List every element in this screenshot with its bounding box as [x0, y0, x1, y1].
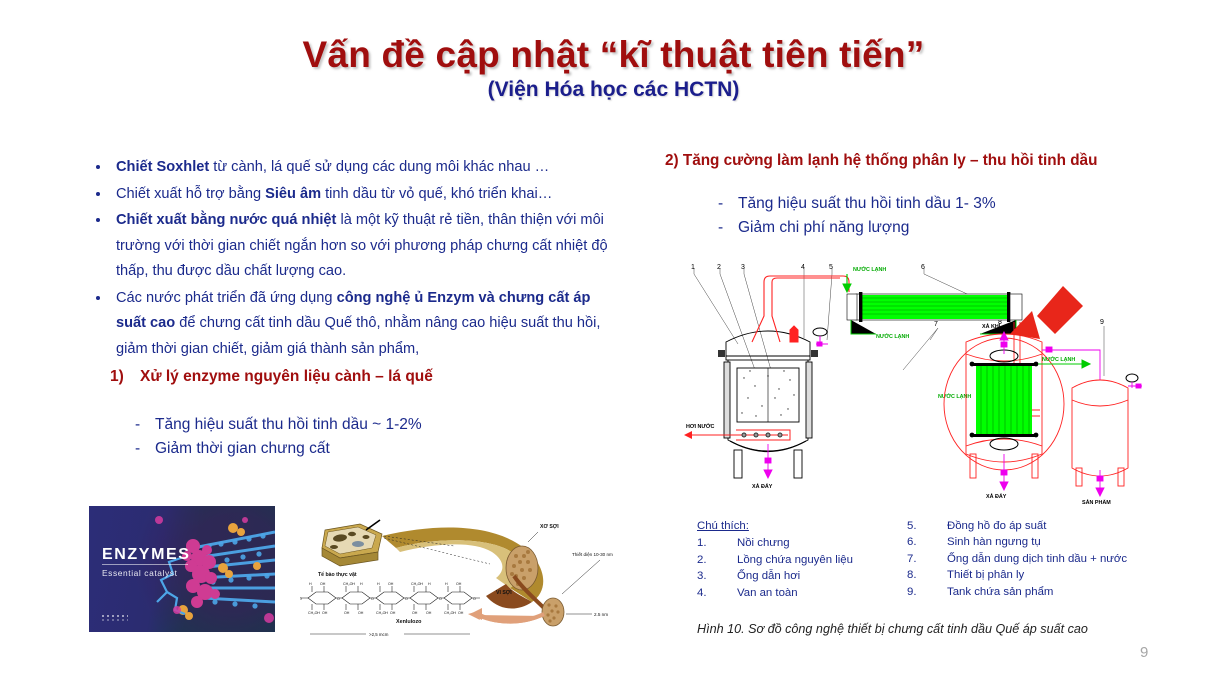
- bullet-text-bold: Siêu âm: [265, 186, 321, 202]
- svg-text:OH: OH: [390, 611, 396, 615]
- legend-item: 7.Ống dẫn dung dịch tinh dầu + nước: [907, 551, 1157, 567]
- legend-item: 5.Đồng hồ đo áp suất: [907, 518, 1157, 534]
- svg-text:H: H: [309, 582, 312, 586]
- list-item: Chiết xuất bằng nước quá nhiệt là một kỹ…: [88, 208, 618, 285]
- cellulose-microfiber-label: VI SỢI: [496, 590, 512, 596]
- legend-item: 6.Sinh hàn ngưng tụ: [907, 534, 1157, 550]
- left-column: Chiết Soxhlet từ cành, lá quế sử dụng cá…: [88, 155, 618, 363]
- legend-item: 9.Tank chứa sản phẩm: [907, 584, 1157, 600]
- callout-5: 5: [829, 264, 833, 271]
- legend-column-left: Chú thích: 1.Nồi chưng 2.Lồng chứa nguyê…: [697, 518, 907, 601]
- bullet-text-pre: Các nước phát triển đã ứng dụng: [116, 290, 337, 306]
- cellulose-figure: HOH CH₂OHOH CH₂OHH OHOH HOH CH₂OHOH CH₂O…: [300, 508, 630, 640]
- legend-number: 1.: [697, 535, 737, 551]
- bullet-text-bold: Chiết xuất bằng nước quá nhiệt: [116, 212, 336, 228]
- list-item: Các nước phát triển đã ứng dụng công ngh…: [88, 286, 618, 363]
- legend-number: 9.: [907, 584, 947, 600]
- svg-text:OH: OH: [358, 611, 364, 615]
- cellulose-scale-label: >2,5 mcm: [369, 632, 389, 637]
- figure-caption: Hình 10. Sơ đồ công nghệ thiết bị chưng …: [697, 622, 1197, 636]
- section-2-heading: 2) Tăng cường làm lạnh hệ thống phân ly …: [665, 152, 1205, 170]
- svg-text:OH: OH: [320, 582, 326, 586]
- legend-number: 8.: [907, 567, 947, 583]
- legend-number: 4.: [697, 585, 737, 601]
- legend-text: Thiết bị phân ly: [947, 567, 1157, 583]
- legend-item: 3.Ống dẫn hơi: [697, 568, 907, 584]
- label-bottom-drain-2: XẢ ĐÁY: [986, 493, 1007, 500]
- callout-3: 3: [741, 264, 745, 271]
- enzymes-divider: [102, 564, 188, 565]
- label-cold-water-mid: NƯỚC LẠNH: [876, 332, 909, 340]
- svg-text:CH₂OH: CH₂OH: [376, 611, 388, 615]
- bullet-list: Chiết Soxhlet từ cành, lá quế sử dụng cá…: [88, 155, 618, 362]
- svg-text:O: O: [300, 597, 302, 601]
- section-2-dash-list: Tăng hiệu suất thu hồi tinh dầu 1- 3% Gi…: [718, 192, 1188, 240]
- bullet-text-post: tinh dầu từ vỏ quế, khó triển khai…: [321, 186, 552, 202]
- bullet-text-pre: Chiết xuất hỗ trợ bằng: [116, 186, 265, 202]
- list-item: Tăng hiệu suất thu hồi tinh dầu ~ 1-2%: [135, 413, 615, 437]
- slide: Vấn đề cập nhật “kĩ thuật tiên tiến” (Vi…: [0, 0, 1227, 681]
- process-flow-svg: 1 2 3 4 5 6 7 8 9: [680, 258, 1200, 508]
- enzymes-subtitle: Essential catalyst: [102, 568, 178, 578]
- legend-item: 1.Nồi chưng: [697, 535, 907, 551]
- svg-text:O: O: [371, 597, 374, 601]
- legend-text: Tank chứa sản phẩm: [947, 584, 1157, 600]
- legend-number: 5.: [907, 518, 947, 534]
- section-1-heading: 1)Xử lý enzyme nguyên liệu cành – lá quế: [110, 368, 610, 386]
- cellulose-molecule-label: Xenlulozo: [396, 619, 422, 625]
- legend-number: 2.: [697, 552, 737, 568]
- label-vent: XẢ KHÍ: [982, 322, 1001, 330]
- svg-text:OH: OH: [426, 611, 432, 615]
- section-1-title: Xử lý enzyme nguyên liệu cành – lá quế: [140, 368, 433, 385]
- process-flow-diagram: 1 2 3 4 5 6 7 8 9: [680, 258, 1200, 508]
- svg-text:OH: OH: [388, 582, 394, 586]
- label-bottom-drain-1: XẢ ĐÁY: [752, 483, 773, 490]
- svg-text:O: O: [405, 597, 408, 601]
- list-item: Giảm chi phí năng lượng: [718, 216, 1188, 240]
- svg-text:O: O: [337, 597, 340, 601]
- legend-number: 7.: [907, 551, 947, 567]
- list-item: Chiết xuất hỗ trợ bằng Siêu âm tinh dầu …: [88, 182, 618, 208]
- legend-item: 4.Van an toàn: [697, 585, 907, 601]
- bullet-text-bold: Chiết Soxhlet: [116, 159, 209, 175]
- cellulose-svg: HOH CH₂OHOH CH₂OHH OHOH HOH CH₂OHOH CH₂O…: [300, 508, 630, 640]
- svg-text:OH: OH: [322, 611, 328, 615]
- legend-text: Ống dẫn hơi: [737, 568, 907, 584]
- svg-text:H: H: [360, 582, 363, 586]
- section-1-number: 1): [110, 368, 140, 386]
- legend-number: 3.: [697, 568, 737, 584]
- callout-4: 4: [801, 264, 805, 271]
- list-item: Tăng hiệu suất thu hồi tinh dầu 1- 3%: [718, 192, 1188, 216]
- legend-text: Ống dẫn dung dịch tinh dầu + nước: [947, 551, 1157, 567]
- svg-text:H: H: [445, 582, 448, 586]
- page-title: Vấn đề cập nhật “kĩ thuật tiên tiến”: [0, 34, 1227, 76]
- bullet-text-post: để chưng cất tinh dầu Quế thô, nhằm nâng…: [116, 315, 600, 357]
- diagram-legend: Chú thích: 1.Nồi chưng 2.Lồng chứa nguyê…: [697, 518, 1167, 601]
- label-steam: HƠI NƯỚC: [686, 422, 714, 430]
- page-subtitle: (Viện Hóa học các HCTN): [0, 78, 1227, 102]
- svg-text:O: O: [473, 597, 476, 601]
- section-1-dash-list: Tăng hiệu suất thu hồi tinh dầu ~ 1-2% G…: [135, 413, 615, 461]
- callout-2: 2: [717, 264, 721, 271]
- svg-text:CH₂OH: CH₂OH: [444, 611, 456, 615]
- cellulose-fiber-label: XƠ SỢI: [540, 524, 559, 530]
- legend-item: 8.Thiết bị phân ly: [907, 567, 1157, 583]
- svg-text:O: O: [439, 597, 442, 601]
- cellulose-nm-label: 2.5 nm: [594, 612, 608, 617]
- callout-6: 6: [921, 264, 925, 271]
- page-number: 9: [1140, 644, 1148, 661]
- svg-text:CH₂OH: CH₂OH: [343, 582, 355, 586]
- svg-text:OH: OH: [412, 611, 418, 615]
- cellulose-section-label: Thiết diện 10-30 nm: [572, 552, 613, 557]
- svg-text:OH: OH: [344, 611, 350, 615]
- legend-number: 6.: [907, 534, 947, 550]
- callout-9: 9: [1100, 319, 1104, 326]
- svg-text:OH: OH: [458, 611, 464, 615]
- legend-title: Chú thích:: [697, 518, 907, 534]
- list-item: Giảm thời gian chưng cất: [135, 437, 615, 461]
- svg-text:CH₂OH: CH₂OH: [411, 582, 423, 586]
- legend-text: Đồng hồ đo áp suất: [947, 518, 1157, 534]
- legend-text: Sinh hàn ngưng tụ: [947, 534, 1157, 550]
- label-cold-water-out: NƯỚC LẠNH: [1042, 355, 1075, 363]
- label-cold-water-top: NƯỚC LẠNH: [853, 265, 886, 273]
- callout-1: 1: [691, 264, 695, 271]
- svg-text:H: H: [428, 582, 431, 586]
- svg-text:H: H: [377, 582, 380, 586]
- list-item: Chiết Soxhlet từ cành, lá quế sử dụng cá…: [88, 155, 618, 181]
- bullet-text-post: từ cành, lá quế sử dụng các dung môi khá…: [209, 159, 549, 175]
- legend-item: 2.Lồng chứa nguyên liệu: [697, 552, 907, 568]
- legend-text: Lồng chứa nguyên liệu: [737, 552, 907, 568]
- legend-column-right: 5.Đồng hồ đo áp suất 6.Sinh hàn ngưng tụ…: [907, 518, 1157, 601]
- legend-text: Nồi chưng: [737, 535, 907, 551]
- legend-text: Van an toàn: [737, 585, 907, 601]
- svg-text:CH₂OH: CH₂OH: [308, 611, 320, 615]
- svg-text:OH: OH: [456, 582, 462, 586]
- enzymes-dots-decoration: [102, 615, 128, 622]
- enzymes-title: ENZYMES: [102, 546, 191, 564]
- label-product: SẢN PHẨM: [1082, 499, 1111, 506]
- cellulose-cell-label: Tế bào thực vật: [318, 571, 357, 578]
- callout-7: 7: [934, 321, 938, 328]
- enzymes-image: ENZYMES Essential catalyst: [89, 506, 275, 632]
